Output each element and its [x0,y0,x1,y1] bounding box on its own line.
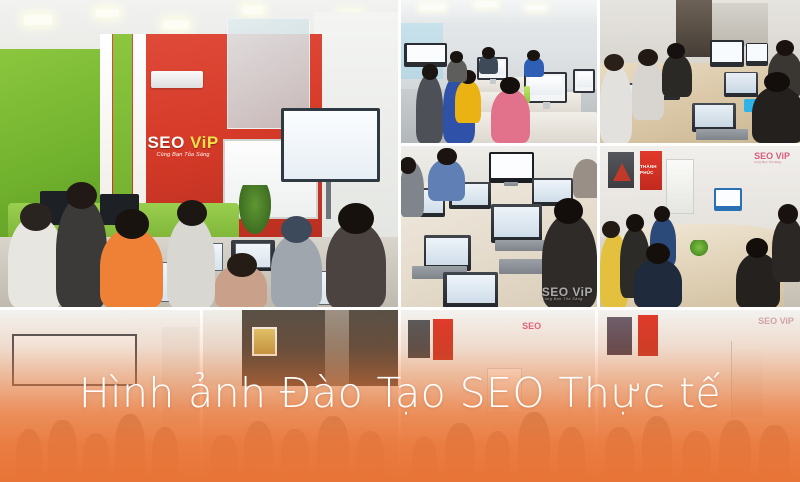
person [600,66,632,143]
wall-display [404,43,447,67]
person-head [20,203,52,231]
person [416,74,444,143]
person-head [626,214,644,232]
photo-imac-computer-lab[interactable] [400,0,597,143]
person [271,234,323,308]
ceiling-light [96,9,120,17]
imac-display [573,69,595,93]
laptop [724,72,758,98]
poster-dark [608,152,634,188]
tv-stand [326,182,331,219]
person-head [400,157,416,173]
page-root: SEO ViP Cùng Bạn Tỏa Sáng [0,0,800,482]
monitor [714,188,742,211]
person-head [554,198,584,224]
person-head [778,204,798,223]
person [326,222,386,308]
collage-divider-vertical [398,0,401,310]
corner-logo-tagline: Cùng Bạn Tỏa Sáng [754,161,790,164]
corner-logo-seo-vip: SEO ViP Cùng Bạn Tỏa Sáng [754,152,790,164]
laptop-keyboard [495,240,550,251]
monitor-stand [504,182,518,186]
potted-plant [690,240,708,256]
person-head [482,47,495,58]
person-head [667,43,685,59]
tv-display [281,108,381,182]
wall-logo-tagline: Cùng Bạn Tỏa Sáng [156,153,209,159]
person-head [746,238,768,257]
ceiling-light [24,15,52,25]
laptop [692,103,736,132]
person-head [450,51,463,62]
air-conditioner [151,71,203,88]
person [428,159,465,201]
person-head [227,253,257,278]
banner-section: SEO SEO ViP [0,310,800,482]
person [491,89,530,143]
laptop-keyboard [696,129,748,140]
person-head [115,209,149,238]
ceiling-light [475,2,497,7]
wall-logo-seo-vip: SEO ViP Cùng Bạn Tỏa Sáng [143,123,223,169]
person [632,60,664,120]
poster-thanh-phuc: THÀNH PHÚC [640,151,662,190]
ceiling-light [526,6,546,10]
watermark-seo-vip: SEO ViP Cùng Bạn Tỏa Sáng [542,286,593,302]
collage-divider-vertical [597,0,600,310]
person-head [602,221,620,239]
desk [471,112,597,143]
person-head [654,206,670,222]
monitor [489,152,534,183]
person [662,54,692,97]
person-head [776,40,794,56]
person [634,259,682,308]
monitor [710,40,744,67]
person [573,159,597,198]
monitor [746,43,768,66]
cabinet [666,159,694,214]
laptop [491,204,542,243]
photo-laptop-training-table[interactable]: SEO ViP Cùng Bạn Tỏa Sáng [400,146,597,308]
ceiling-light [243,6,263,13]
ceiling-light [420,4,446,10]
imac-stand [490,79,496,85]
photo-collage: SEO ViP Cùng Bạn Tỏa Sáng [0,0,800,310]
wall-logo-main: SEO ViP [147,134,218,151]
laptop [443,272,498,308]
person [167,216,215,308]
poster-text: THÀNH PHÚC [640,164,662,176]
person [772,217,800,282]
person [455,80,481,123]
photo-meeting-room-posters[interactable]: THÀNH PHÚC SEO ViP Cùng Bạn Tỏa Sáng [600,146,800,308]
potted-plant [239,185,271,234]
photo-meeting-room-laptops[interactable] [600,0,800,143]
collage-divider-horizontal [398,143,800,146]
person [752,86,800,143]
banner-title: Hình ảnh Đào Tạo SEO Thực tế [0,310,800,482]
person-head [338,203,374,234]
photo-seo-vip-classroom[interactable]: SEO ViP Cùng Bạn Tỏa Sáng [0,0,398,308]
imac-stand [543,102,550,109]
ceiling-light [163,20,189,29]
person-head [638,49,658,66]
person [100,228,164,308]
person-head [764,72,790,92]
